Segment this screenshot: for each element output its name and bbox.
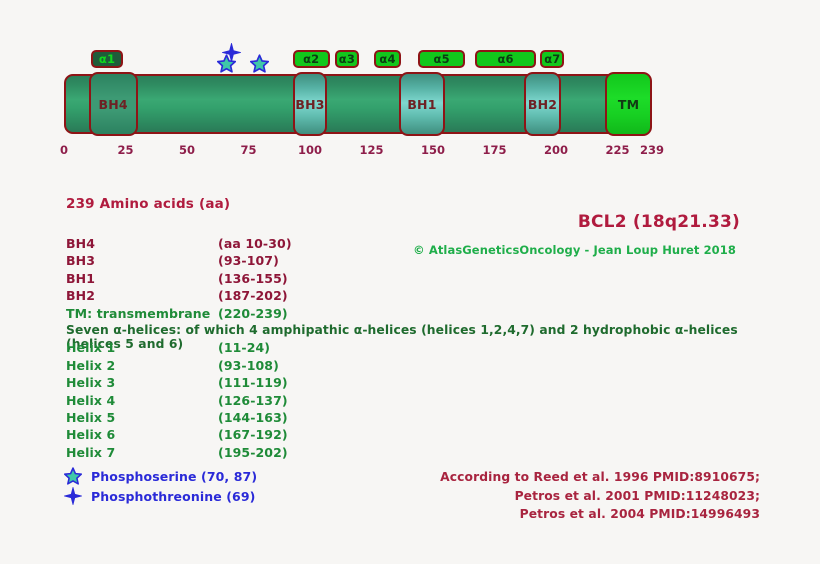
helix-6-range: (167-192): [218, 427, 288, 442]
domain-bh1-row: BH1(136-155): [66, 271, 766, 288]
reference-line-1: According to Reed et al. 1996 PMID:89106…: [440, 468, 760, 487]
helix-chip-1: α1: [91, 50, 123, 68]
reference-line-2: Petros et al. 2001 PMID:11248023;: [440, 487, 760, 506]
ruler-tick-150: 150: [421, 143, 445, 157]
five-point-star-icon: [217, 54, 236, 77]
helix-chip-label: α5: [433, 52, 449, 66]
helix-7-label: Helix 7: [66, 445, 218, 460]
helix-5-range: (144-163): [218, 410, 288, 425]
ruler-tick-75: 75: [241, 143, 257, 157]
legend-row: Phosphoserine (70, 87): [64, 466, 257, 486]
protein-schematic: BH4BH3BH1BH2TM α1α2α3α4α5α6α7 0255075100…: [0, 0, 820, 170]
helix-chip-7: α7: [540, 50, 564, 68]
helix-4-row: Helix 4(126-137): [66, 393, 766, 410]
helix-chip-label: α7: [544, 52, 560, 66]
amino-acid-count-label: 239 Amino acids (aa): [66, 196, 230, 212]
domain-box-tm: TM: [605, 72, 652, 136]
helix-chip-label: α2: [303, 52, 319, 66]
protein-diagram-page: BH4BH3BH1BH2TM α1α2α3α4α5α6α7 0255075100…: [0, 0, 820, 564]
helix-2-row: Helix 2(93-108): [66, 358, 766, 375]
domain-label: BH3: [295, 97, 324, 112]
domain-bh4-range: (aa 10-30): [218, 236, 292, 251]
legend-label: Phosphoserine (70, 87): [91, 469, 257, 484]
domain-bh1-label: BH1: [66, 271, 218, 286]
domain-tm-range: (220-239): [218, 306, 288, 321]
domain-box-bh1: BH1: [399, 72, 446, 136]
domain-bh1-range: (136-155): [218, 271, 288, 286]
domain-box-bh2: BH2: [524, 72, 561, 136]
domain-box-bh3: BH3: [293, 72, 327, 136]
domain-bh2-row: BH2(187-202): [66, 288, 766, 305]
domain-bh4-label: BH4: [66, 236, 218, 251]
ruler-tick-50: 50: [179, 143, 195, 157]
reference-line-3: Petros et al. 2004 PMID:14996493: [440, 505, 760, 524]
helix-chip-label: α1: [99, 52, 115, 66]
domain-bh3-range: (93-107): [218, 253, 279, 268]
annotation-rows: BH4(aa 10-30)BH3(93-107)BH1(136-155)BH2(…: [66, 236, 766, 462]
four-point-star-icon: [64, 487, 84, 505]
domain-bh3-label: BH3: [66, 253, 218, 268]
domain-label: BH2: [528, 97, 557, 112]
ruler-tick-125: 125: [360, 143, 384, 157]
ruler-tick-175: 175: [483, 143, 507, 157]
phospho-legend: Phosphoserine (70, 87)Phosphothreonine (…: [64, 466, 257, 506]
domain-box-bh4: BH4: [89, 72, 138, 136]
helix-3-label: Helix 3: [66, 375, 218, 390]
domain-tm-row: TM: transmembrane(220-239): [66, 306, 766, 323]
ruler-tick-0: 0: [60, 143, 68, 157]
ruler-tick-25: 25: [117, 143, 133, 157]
helix-5-label: Helix 5: [66, 410, 218, 425]
helix-4-label: Helix 4: [66, 393, 218, 408]
helix-chip-label: α6: [497, 52, 513, 66]
ruler-tick-225: 225: [606, 143, 630, 157]
helix-6-label: Helix 6: [66, 427, 218, 442]
domain-bh2-range: (187-202): [218, 288, 288, 303]
domain-label: BH1: [407, 97, 436, 112]
protein-backbone-bar: [64, 74, 652, 134]
ruler-tick-200: 200: [544, 143, 568, 157]
helix-7-row: Helix 7(195-202): [66, 445, 766, 462]
helix-1-range: (11-24): [218, 340, 270, 355]
helix-3-row: Helix 3(111-119): [66, 375, 766, 392]
domain-bh3-row: BH3(93-107): [66, 253, 766, 270]
domain-label: TM: [618, 97, 639, 112]
helix-chip-4: α4: [374, 50, 401, 68]
five-point-star-icon: [250, 54, 269, 77]
five-point-star-icon: [64, 467, 84, 485]
domain-label: BH4: [99, 97, 128, 112]
ruler-tick-100: 100: [298, 143, 322, 157]
helix-2-label: Helix 2: [66, 358, 218, 373]
helix-chip-6: α6: [475, 50, 537, 68]
helix-2-range: (93-108): [218, 358, 279, 373]
domain-bh2-label: BH2: [66, 288, 218, 303]
helix-chip-5: α5: [418, 50, 465, 68]
helix-chip-label: α4: [379, 52, 395, 66]
helix-chip-label: α3: [339, 52, 355, 66]
helix-4-range: (126-137): [218, 393, 288, 408]
helix-3-range: (111-119): [218, 375, 288, 390]
helix-5-row: Helix 5(144-163): [66, 410, 766, 427]
helix-chip-2: α2: [293, 50, 330, 68]
legend-label: Phosphothreonine (69): [91, 489, 255, 504]
domain-tm-label: TM: transmembrane: [66, 306, 218, 321]
reference-list: According to Reed et al. 1996 PMID:89106…: [440, 468, 760, 524]
domain-bh4-row: BH4(aa 10-30): [66, 236, 766, 253]
helix-chip-3: α3: [335, 50, 359, 68]
legend-row: Phosphothreonine (69): [64, 486, 257, 506]
gene-title: BCL2 (18q21.33): [578, 212, 740, 232]
helix-1-label: Helix 1: [66, 340, 218, 355]
helix-7-range: (195-202): [218, 445, 288, 460]
helix-6-row: Helix 6(167-192): [66, 427, 766, 444]
helix-summary-note: Seven α-helices: of which 4 amphipathic …: [66, 323, 766, 340]
ruler-tick-239: 239: [640, 143, 664, 157]
